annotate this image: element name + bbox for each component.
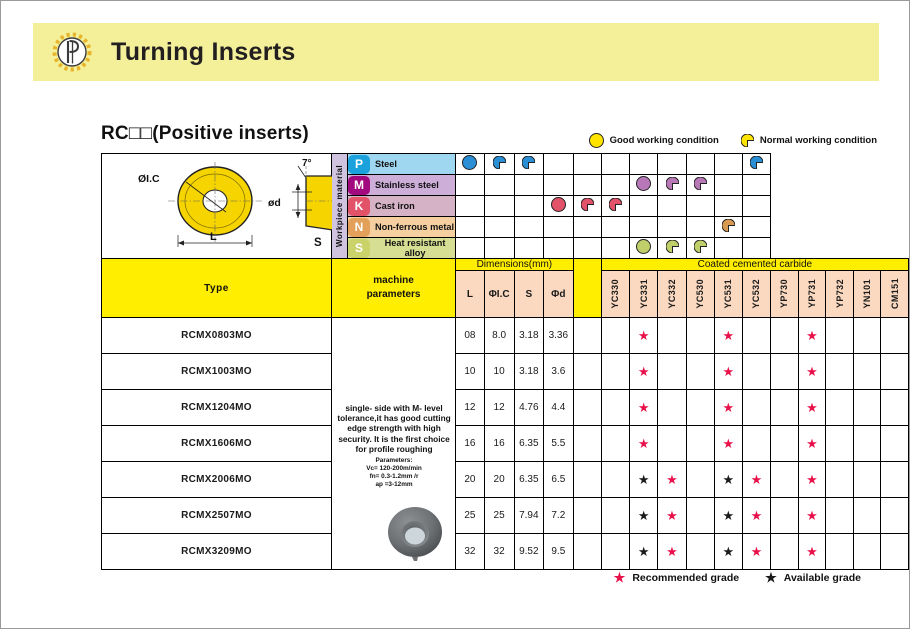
material-code-P: P xyxy=(348,155,370,174)
material-mark-S-YP732 xyxy=(686,238,714,259)
grade-mark-YP731: ★ xyxy=(798,318,826,354)
grade-mark-YC532 xyxy=(742,354,770,390)
page-title: RC□□(Positive inserts) xyxy=(101,123,309,145)
table-row: RCMX2006MO20206.356.5★★★★★ xyxy=(102,462,909,498)
grade-mark-YN101 xyxy=(853,318,881,354)
grade-mark-YP731: ★ xyxy=(798,498,826,534)
insert-specification-table: ØI.C L 7° xyxy=(101,153,909,570)
grade-mark-YC532 xyxy=(742,426,770,462)
header-coated-carbide: Coated cemented carbide xyxy=(601,259,908,271)
material-code-S: S xyxy=(348,239,370,258)
banner-title: Turning Inserts xyxy=(111,38,296,67)
grade-mark-YP731: ★ xyxy=(798,390,826,426)
header-grade-YP730: YP730 xyxy=(771,271,799,318)
grade-legend: ★ Recommended grade ★ Available grade xyxy=(614,571,861,584)
table-header-band: Type machineparameters Dimensions(mm) Co… xyxy=(102,259,909,271)
insert-type-cell[interactable]: RCMX1606MO xyxy=(102,426,332,462)
dimension-L-cell: 08 xyxy=(456,318,485,354)
dimension-IC-cell: 25 xyxy=(484,498,514,534)
material-mark-P-YC332 xyxy=(514,154,544,175)
pacman-circle-icon xyxy=(694,240,707,253)
material-mark-K-YP730 xyxy=(629,196,658,217)
grade-mark-YC531: ★ xyxy=(714,498,742,534)
grade-mark-YP732 xyxy=(826,390,854,426)
grade-mark-YC331: ★ xyxy=(629,498,658,534)
dimension-IC-cell: 32 xyxy=(484,534,514,570)
pacman-circle-icon xyxy=(666,177,679,190)
material-mark-M-YP732 xyxy=(686,175,714,196)
table-row: RCMX3209MO32329.529.5★★★★★ xyxy=(102,534,909,570)
pacman-circle-icon xyxy=(522,156,535,169)
material-mark-M-YC330 xyxy=(456,175,485,196)
material-mark-N-YC330 xyxy=(456,217,485,238)
material-mark-N-YC331 xyxy=(484,217,514,238)
material-mark-M-YP730 xyxy=(629,175,658,196)
material-mark-N-YP731 xyxy=(658,217,686,238)
pacman-circle-icon xyxy=(750,156,763,169)
grade-mark-YN101 xyxy=(853,354,881,390)
full-circle-icon xyxy=(589,133,604,148)
material-mark-K-YP731 xyxy=(658,196,686,217)
dimension-L-cell: 16 xyxy=(456,426,485,462)
material-mark-M-YP731 xyxy=(658,175,686,196)
material-mark-K-YC531 xyxy=(573,196,601,217)
material-label-N: N Non-ferrous metal xyxy=(347,217,455,238)
grade-mark-YP731: ★ xyxy=(798,462,826,498)
insert-type-cell[interactable]: RCMX0803MO xyxy=(102,318,332,354)
row-spacer-cell xyxy=(573,318,601,354)
grade-mark-YC331: ★ xyxy=(629,318,658,354)
red-star-icon: ★ xyxy=(806,328,818,343)
grade-mark-YC531: ★ xyxy=(714,318,742,354)
grade-mark-CM151 xyxy=(881,318,909,354)
grade-mark-YC332 xyxy=(658,318,686,354)
red-star-icon: ★ xyxy=(722,436,734,451)
material-mark-P-YC530 xyxy=(544,154,574,175)
dimension-D-cell: 3.6 xyxy=(544,354,574,390)
grade-mark-YP730 xyxy=(771,498,799,534)
material-label-M: M Stainless steel xyxy=(347,175,455,196)
full-circle-icon xyxy=(636,239,651,254)
black-star-icon: ★ xyxy=(638,544,650,559)
grade-mark-YC530 xyxy=(686,390,714,426)
material-name-K: Cast iron xyxy=(370,201,415,211)
working-condition-legend: Good working condition Normal working co… xyxy=(589,133,877,148)
pacman-circle-icon xyxy=(493,156,506,169)
table-row: RCMX0803MOsingle- side with M- level tol… xyxy=(102,318,909,354)
material-mark-S-YP731 xyxy=(658,238,686,259)
grade-mark-CM151 xyxy=(881,498,909,534)
material-mark-S-YN101 xyxy=(714,238,742,259)
material-mark-K-YC331 xyxy=(484,196,514,217)
dimension-IC-cell: 12 xyxy=(484,390,514,426)
red-star-icon: ★ xyxy=(751,472,763,487)
grade-mark-YP730 xyxy=(771,534,799,570)
legend-recommended-label: Recommended grade xyxy=(632,572,739,584)
grade-mark-YC331: ★ xyxy=(629,462,658,498)
pacman-circle-icon xyxy=(722,219,735,232)
svg-text:S: S xyxy=(314,237,322,249)
grade-mark-YP731: ★ xyxy=(798,534,826,570)
svg-text:ØI.C: ØI.C xyxy=(138,173,160,185)
material-mark-M-YC531 xyxy=(573,175,601,196)
dimension-D-cell: 6.5 xyxy=(544,462,574,498)
grade-mark-YP731: ★ xyxy=(798,354,826,390)
grade-mark-YP730 xyxy=(771,462,799,498)
grade-mark-YC531: ★ xyxy=(714,462,742,498)
header-machine-parameters: machineparameters xyxy=(331,259,455,318)
dimension-D-cell: 4.4 xyxy=(544,390,574,426)
red-star-icon: ★ xyxy=(806,508,818,523)
dimension-S-cell: 6.35 xyxy=(514,462,544,498)
material-mark-P-YP731 xyxy=(658,154,686,175)
material-mark-P-YC532 xyxy=(601,154,629,175)
black-star-icon: ★ xyxy=(638,508,650,523)
material-mark-N-YN101 xyxy=(714,217,742,238)
svg-text:7°: 7° xyxy=(302,158,312,169)
page-header-banner: Turning Inserts xyxy=(33,23,879,81)
material-mark-S-YC532 xyxy=(601,238,629,259)
pacman-circle-icon xyxy=(694,177,707,190)
dimension-S-cell: 4.76 xyxy=(514,390,544,426)
red-star-icon: ★ xyxy=(806,364,818,379)
material-mark-S-YC530 xyxy=(544,238,574,259)
material-mark-N-YP730 xyxy=(629,217,658,238)
grade-mark-YC330 xyxy=(601,498,629,534)
svg-text:L: L xyxy=(210,231,217,243)
legend-good-label: Good working condition xyxy=(610,135,719,146)
header-spacer xyxy=(573,259,601,318)
grade-mark-YC332 xyxy=(658,426,686,462)
material-mark-M-YC532 xyxy=(601,175,629,196)
header-dimensions: Dimensions(mm) xyxy=(456,259,573,271)
grade-mark-CM151 xyxy=(881,462,909,498)
grade-mark-YP732 xyxy=(826,462,854,498)
grade-mark-YN101 xyxy=(853,498,881,534)
black-star-icon: ★ xyxy=(638,472,650,487)
header-dim-S: S xyxy=(514,271,544,318)
material-mark-K-YC532 xyxy=(601,196,629,217)
grade-mark-YP730 xyxy=(771,390,799,426)
header-grade-YC531: YC531 xyxy=(714,271,742,318)
dimension-L-cell: 10 xyxy=(456,354,485,390)
header-grade-YC532: YC532 xyxy=(742,271,770,318)
black-star-icon: ★ xyxy=(722,544,734,559)
header-grade-YP732: YP732 xyxy=(826,271,854,318)
machine-parameters-values: Parameters:Vc= 120-200m/minfn= 0.3-1.2mm… xyxy=(332,455,455,490)
grade-mark-YC330 xyxy=(601,462,629,498)
grade-mark-YC531: ★ xyxy=(714,354,742,390)
pacman-circle-icon xyxy=(609,198,622,211)
material-name-P: Steel xyxy=(370,159,397,169)
grade-mark-YC330 xyxy=(601,534,629,570)
dimension-IC-cell: 16 xyxy=(484,426,514,462)
material-label-P: P Steel xyxy=(347,154,455,175)
material-mark-S-CM151 xyxy=(742,238,770,259)
grade-mark-YC530 xyxy=(686,426,714,462)
row-spacer-cell xyxy=(573,462,601,498)
header-dim-d: Φd xyxy=(544,271,574,318)
grade-mark-YP732 xyxy=(826,426,854,462)
header-grade-YC332: YC332 xyxy=(658,271,686,318)
material-mark-M-YN101 xyxy=(714,175,742,196)
grade-mark-YC332: ★ xyxy=(658,462,686,498)
grade-mark-YC331: ★ xyxy=(629,354,658,390)
red-star-icon: ★ xyxy=(666,508,678,523)
grade-mark-YC332: ★ xyxy=(658,534,686,570)
insert-type-cell[interactable]: RCMX3209MO xyxy=(102,534,332,570)
material-mark-S-YC531 xyxy=(573,238,601,259)
gear-logo-icon xyxy=(47,27,97,77)
red-star-icon: ★ xyxy=(638,436,650,451)
full-circle-icon xyxy=(551,197,566,212)
pacman-circle-icon xyxy=(581,198,594,211)
dimension-S-cell: 9.52 xyxy=(514,534,544,570)
insert-type-cell[interactable]: RCMX2006MO xyxy=(102,462,332,498)
grade-mark-YP730 xyxy=(771,354,799,390)
table-row: RCMX1606MO16166.355.5★★★ xyxy=(102,426,909,462)
dimension-S-cell: 6.35 xyxy=(514,426,544,462)
grade-mark-YC331: ★ xyxy=(629,534,658,570)
dimension-D-cell: 5.5 xyxy=(544,426,574,462)
dimension-L-cell: 20 xyxy=(456,462,485,498)
material-mark-N-YP732 xyxy=(686,217,714,238)
grade-mark-YC530 xyxy=(686,498,714,534)
grade-mark-YP732 xyxy=(826,498,854,534)
red-star-icon: ★ xyxy=(722,328,734,343)
material-mark-K-YP732 xyxy=(686,196,714,217)
grade-mark-YN101 xyxy=(853,390,881,426)
material-code-M: M xyxy=(348,176,370,195)
material-mark-M-YC332 xyxy=(514,175,544,196)
red-star-icon: ★ xyxy=(751,508,763,523)
machine-parameters-cell: single- side with M- level tolerance,it … xyxy=(331,318,455,570)
grade-mark-YN101 xyxy=(853,534,881,570)
grade-mark-YC332 xyxy=(658,354,686,390)
red-star-icon: ★ xyxy=(614,571,626,584)
material-mark-P-YP730 xyxy=(629,154,658,175)
grade-mark-YC531: ★ xyxy=(714,534,742,570)
dimension-S-cell: 3.18 xyxy=(514,354,544,390)
dimension-D-cell: 3.36 xyxy=(544,318,574,354)
red-star-icon: ★ xyxy=(806,472,818,487)
header-type: Type xyxy=(102,259,332,318)
grade-mark-YC330 xyxy=(601,354,629,390)
material-mark-K-YC330 xyxy=(456,196,485,217)
material-mark-N-YC332 xyxy=(514,217,544,238)
dimension-IC-cell: 20 xyxy=(484,462,514,498)
legend-available-label: Available grade xyxy=(784,572,861,584)
grade-mark-YC532: ★ xyxy=(742,498,770,534)
dimension-S-cell: 3.18 xyxy=(514,318,544,354)
header-grade-YP731: YP731 xyxy=(798,271,826,318)
red-star-icon: ★ xyxy=(806,544,818,559)
red-star-icon: ★ xyxy=(806,436,818,451)
material-mark-S-YP730 xyxy=(629,238,658,259)
material-mark-K-CM151 xyxy=(742,196,770,217)
grade-mark-YC530 xyxy=(686,354,714,390)
grade-mark-CM151 xyxy=(881,426,909,462)
material-mark-N-YC532 xyxy=(601,217,629,238)
dimension-S-cell: 7.94 xyxy=(514,498,544,534)
material-mark-N-YC531 xyxy=(573,217,601,238)
material-label-S: S Heat resistant alloy xyxy=(347,238,455,259)
dimension-L-cell: 32 xyxy=(456,534,485,570)
material-mark-P-YP732 xyxy=(686,154,714,175)
grade-mark-YP732 xyxy=(826,354,854,390)
dimension-D-cell: 9.5 xyxy=(544,534,574,570)
dimension-IC-cell: 10 xyxy=(484,354,514,390)
material-mark-S-YC331 xyxy=(484,238,514,259)
row-spacer-cell xyxy=(573,354,601,390)
workpiece-material-axis-label: Workpiece material xyxy=(331,154,347,259)
grade-mark-CM151 xyxy=(881,534,909,570)
material-mark-P-YN101 xyxy=(714,154,742,175)
grade-mark-YC532 xyxy=(742,318,770,354)
grade-mark-YP730 xyxy=(771,426,799,462)
material-mark-K-YN101 xyxy=(714,196,742,217)
grade-mark-YP730 xyxy=(771,318,799,354)
full-circle-icon xyxy=(462,155,477,170)
header-grade-CM151: CM151 xyxy=(881,271,909,318)
material-label-K: K Cast iron xyxy=(347,196,455,217)
red-star-icon: ★ xyxy=(666,544,678,559)
grade-mark-YC330 xyxy=(601,426,629,462)
material-row: ØI.C L 7° xyxy=(102,154,909,175)
header-grade-YC530: YC530 xyxy=(686,271,714,318)
legend-normal-label: Normal working condition xyxy=(760,135,877,146)
material-mark-M-YC331 xyxy=(484,175,514,196)
table-row: RCMX1204MO12124.764.4★★★ xyxy=(102,390,909,426)
dimension-L-cell: 25 xyxy=(456,498,485,534)
insert-technical-drawing: ØI.C L 7° xyxy=(102,154,332,259)
red-star-icon: ★ xyxy=(722,400,734,415)
material-name-S: Heat resistant alloy xyxy=(370,238,455,258)
grade-mark-YC531: ★ xyxy=(714,426,742,462)
header-grade-YC330: YC330 xyxy=(601,271,629,318)
black-star-icon: ★ xyxy=(765,571,777,584)
header-dim-IC: ΦI.C xyxy=(484,271,514,318)
insert-product-photo xyxy=(384,503,446,561)
table-row: RCMX1003MO10103.183.6★★★ xyxy=(102,354,909,390)
grade-mark-CM151 xyxy=(881,354,909,390)
grade-mark-YC532: ★ xyxy=(742,534,770,570)
row-spacer-cell xyxy=(573,534,601,570)
red-star-icon: ★ xyxy=(666,472,678,487)
material-mark-P-YC330 xyxy=(456,154,485,175)
grade-mark-YC330 xyxy=(601,390,629,426)
table-row: RCMX2507MO25257.947.2★★★★★ xyxy=(102,498,909,534)
material-mark-P-YC531 xyxy=(573,154,601,175)
dimension-L-cell: 12 xyxy=(456,390,485,426)
grade-mark-YC331: ★ xyxy=(629,390,658,426)
insert-type-cell[interactable]: RCMX1003MO xyxy=(102,354,332,390)
grade-mark-YC330 xyxy=(601,318,629,354)
grade-mark-YN101 xyxy=(853,426,881,462)
grade-mark-CM151 xyxy=(881,390,909,426)
svg-text:ød: ød xyxy=(268,197,281,209)
header-grade-YC331: YC331 xyxy=(629,271,658,318)
grade-mark-YC530 xyxy=(686,534,714,570)
grade-mark-YC532 xyxy=(742,390,770,426)
pacman-circle-icon xyxy=(666,240,679,253)
material-code-K: K xyxy=(348,197,370,216)
full-circle-icon xyxy=(636,176,651,191)
grade-mark-YC530 xyxy=(686,318,714,354)
grade-mark-YC332 xyxy=(658,390,686,426)
material-name-N: Non-ferrous metal xyxy=(370,222,454,232)
material-mark-S-YC330 xyxy=(456,238,485,259)
red-star-icon: ★ xyxy=(722,364,734,379)
machine-parameters-description: single- side with M- level tolerance,it … xyxy=(332,398,455,455)
header-grade-YN101: YN101 xyxy=(853,271,881,318)
material-code-N: N xyxy=(348,218,370,237)
insert-type-cell[interactable]: RCMX2507MO xyxy=(102,498,332,534)
grade-mark-YP732 xyxy=(826,318,854,354)
grade-mark-YP732 xyxy=(826,534,854,570)
grade-mark-YC532: ★ xyxy=(742,462,770,498)
material-mark-N-YC530 xyxy=(544,217,574,238)
pacman-circle-icon xyxy=(741,134,754,147)
red-star-icon: ★ xyxy=(806,400,818,415)
header-dim-L: L xyxy=(456,271,485,318)
material-mark-M-YC530 xyxy=(544,175,574,196)
dimension-IC-cell: 8.0 xyxy=(484,318,514,354)
material-mark-S-YC332 xyxy=(514,238,544,259)
red-star-icon: ★ xyxy=(638,364,650,379)
grade-mark-YC530 xyxy=(686,462,714,498)
material-mark-M-CM151 xyxy=(742,175,770,196)
grade-mark-YC331: ★ xyxy=(629,426,658,462)
dimension-D-cell: 7.2 xyxy=(544,498,574,534)
insert-type-cell[interactable]: RCMX1204MO xyxy=(102,390,332,426)
red-star-icon: ★ xyxy=(638,328,650,343)
grade-mark-YC531: ★ xyxy=(714,390,742,426)
material-mark-K-YC332 xyxy=(514,196,544,217)
red-star-icon: ★ xyxy=(751,544,763,559)
row-spacer-cell xyxy=(573,426,601,462)
red-star-icon: ★ xyxy=(638,400,650,415)
material-mark-N-CM151 xyxy=(742,217,770,238)
material-mark-K-YC530 xyxy=(544,196,574,217)
material-name-M: Stainless steel xyxy=(370,180,439,190)
grade-mark-YN101 xyxy=(853,462,881,498)
grade-mark-YP731: ★ xyxy=(798,426,826,462)
material-mark-P-CM151 xyxy=(742,154,770,175)
black-star-icon: ★ xyxy=(722,508,734,523)
row-spacer-cell xyxy=(573,498,601,534)
row-spacer-cell xyxy=(573,390,601,426)
black-star-icon: ★ xyxy=(722,472,734,487)
grade-mark-YC332: ★ xyxy=(658,498,686,534)
material-mark-P-YC331 xyxy=(484,154,514,175)
